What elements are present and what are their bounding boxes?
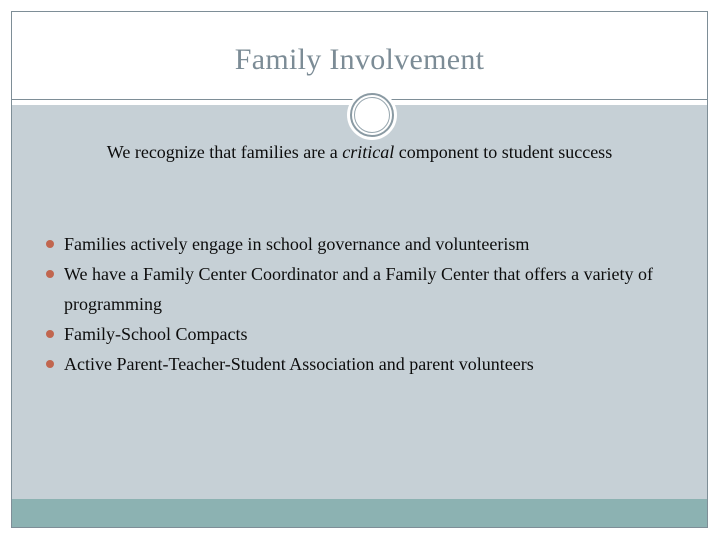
bullet-dot-icon: [46, 330, 54, 338]
presentation-slide: Family Involvement We recognize that fam…: [0, 0, 720, 540]
list-item-label: Active Parent-Teacher-Student Associatio…: [64, 354, 534, 374]
page-title: Family Involvement: [12, 42, 707, 78]
slide-frame: Family Involvement We recognize that fam…: [11, 11, 708, 528]
slide-header-band: Family Involvement: [12, 12, 707, 99]
list-item-label: Family-School Compacts: [64, 324, 248, 344]
slide-footer-bar: [12, 499, 707, 527]
list-item: Family-School Compacts: [34, 319, 681, 349]
subtitle-text-before: We recognize that families are a: [107, 142, 342, 162]
subtitle-text-after: component to student success: [394, 142, 612, 162]
list-item-label: Families actively engage in school gover…: [64, 234, 529, 254]
bullet-list: Families actively engage in school gover…: [34, 229, 681, 379]
list-item: Active Parent-Teacher-Student Associatio…: [34, 349, 681, 379]
list-item-label: We have a Family Center Coordinator and …: [64, 264, 653, 314]
bullet-dot-icon: [46, 270, 54, 278]
slide-content-panel: We recognize that families are a critica…: [12, 105, 707, 499]
ring-ornament-icon: [350, 93, 394, 137]
list-item: Families actively engage in school gover…: [34, 229, 681, 259]
bullet-dot-icon: [46, 240, 54, 248]
ring-inner-circle: [354, 97, 390, 133]
subtitle-emphasis: critical: [342, 142, 394, 162]
list-item: We have a Family Center Coordinator and …: [34, 259, 681, 319]
bullet-dot-icon: [46, 360, 54, 368]
slide-subtitle: We recognize that families are a critica…: [66, 138, 653, 166]
